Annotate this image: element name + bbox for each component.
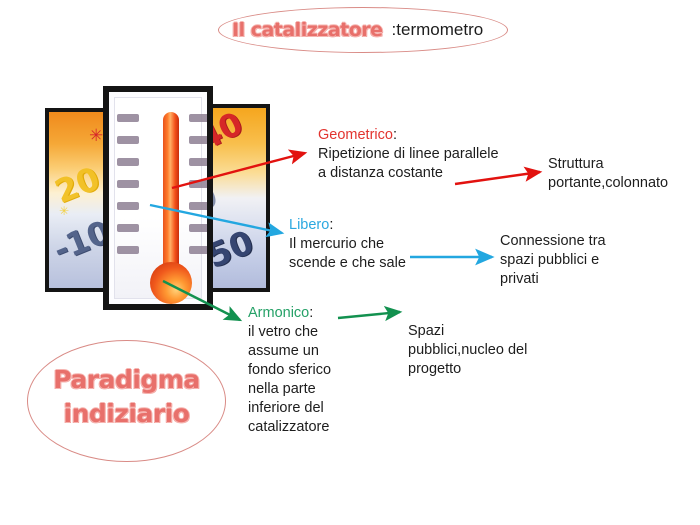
annotation-libero: Libero: Il mercurio che scende e che sal… — [289, 216, 406, 273]
scale-tick — [117, 246, 139, 254]
annotation-armonico-colon: : — [309, 305, 313, 321]
scale-tick — [189, 114, 211, 122]
annotation-libero-line-1: Il mercurio che — [289, 235, 406, 254]
annotation-libero-keyword: Libero — [289, 217, 329, 233]
scale-tick — [189, 246, 211, 254]
result-connessione-line-1: Connessione tra — [500, 232, 606, 251]
result-spazi-line-1: Spazi — [408, 322, 527, 341]
title-text-group: Il catalizzatore :termometro — [232, 16, 502, 44]
annotation-geometrico: Geometrico: Ripetizione di linee paralle… — [318, 126, 499, 183]
scale-tick — [189, 224, 211, 232]
scale-tick — [189, 158, 211, 166]
result-spazi-line-2: pubblici,nucleo del — [408, 341, 527, 360]
paradigm-label: Paradigma indiziario — [27, 363, 226, 431]
annotation-geometrico-line-1: Ripetizione di linee parallele — [318, 145, 499, 164]
result-struttura-line-2: portante,colonnato — [548, 174, 668, 193]
thermometer-tube — [163, 112, 179, 280]
result-connessione-line-2: spazi pubblici e — [500, 251, 606, 270]
annotation-armonico: Armonico: il vetro che assume un fondo s… — [248, 304, 331, 437]
snowflake-icon: ✳ — [89, 126, 103, 146]
annotation-geometrico-keyword: Geometrico — [318, 127, 393, 143]
thermometer-illustration: ✳ 20 ✳ -10 40 ✳ 0 -50 — [43, 86, 271, 310]
annotation-libero-line-2: scende e che sale — [289, 254, 406, 273]
annotation-armonico-line-5: inferiore del — [248, 399, 331, 418]
scale-tick — [117, 158, 139, 166]
annotation-armonico-line-3: fondo sferico — [248, 361, 331, 380]
annotation-geometrico-colon: : — [393, 127, 397, 143]
result-struttura-line-1: Struttura — [548, 155, 668, 174]
scale-tick — [117, 224, 139, 232]
scale-tick — [117, 136, 139, 144]
annotation-armonico-keyword: Armonico — [248, 305, 309, 321]
annotation-geometrico-line-2: a distanza costante — [318, 164, 499, 183]
result-struttura: Struttura portante,colonnato — [548, 155, 668, 193]
annotation-geometrico-heading: Geometrico: — [318, 126, 499, 145]
annotation-armonico-line-1: il vetro che — [248, 323, 331, 342]
scale-tick — [189, 136, 211, 144]
page-subtitle: :termometro — [392, 20, 484, 40]
slide-canvas: Il catalizzatore :termometro ✳ 20 ✳ -10 … — [0, 0, 700, 525]
thermometer-bulb — [150, 262, 192, 304]
snowflake-small-icon: ✳ — [59, 204, 69, 218]
annotation-libero-colon: : — [329, 217, 333, 233]
annotation-armonico-line-4: nella parte — [248, 380, 331, 399]
left-panel-value-20: 20 — [50, 159, 106, 211]
annotation-armonico-heading: Armonico: — [248, 304, 331, 323]
result-connessione: Connessione tra spazi pubblici e privati — [500, 232, 606, 289]
result-connessione-line-3: privati — [500, 270, 606, 289]
paradigm-line-2: indiziario — [27, 397, 226, 431]
annotation-armonico-line-6: catalizzatore — [248, 418, 331, 437]
scale-tick — [189, 180, 211, 188]
scale-tick — [189, 202, 211, 210]
thermometer-center-panel — [103, 86, 213, 310]
thermometer-face — [114, 97, 202, 299]
scale-tick — [117, 180, 139, 188]
annotation-libero-heading: Libero: — [289, 216, 406, 235]
paradigm-line-1: Paradigma — [27, 363, 226, 397]
arrow-armonico-to-spazi — [338, 312, 400, 318]
result-spazi: Spazi pubblici,nucleo del progetto — [408, 322, 527, 379]
annotation-armonico-line-2: assume un — [248, 342, 331, 361]
page-title: Il catalizzatore — [232, 19, 383, 41]
result-spazi-line-3: progetto — [408, 360, 527, 379]
scale-tick — [117, 114, 139, 122]
scale-tick — [117, 202, 139, 210]
